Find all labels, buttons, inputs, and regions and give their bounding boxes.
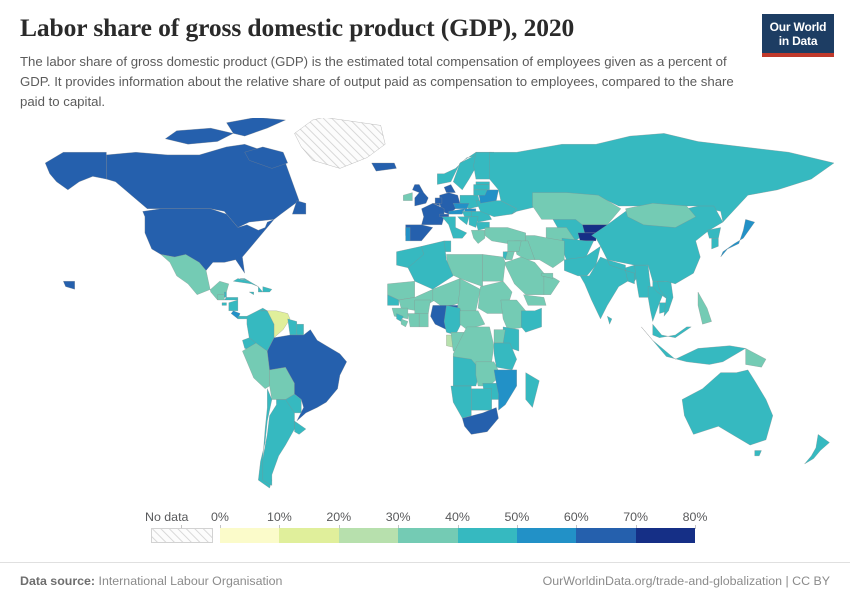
country-canada[interactable] <box>227 118 286 136</box>
legend-segment-40[interactable] <box>458 528 517 543</box>
legend-segment-10[interactable] <box>279 528 338 543</box>
country-suriname[interactable] <box>297 324 304 335</box>
country-jamaica[interactable] <box>249 292 254 295</box>
country-botswana[interactable] <box>471 389 491 411</box>
country-syria[interactable] <box>508 241 522 252</box>
country-australia[interactable] <box>682 370 773 445</box>
country-egypt[interactable] <box>483 254 506 281</box>
world-choropleth-map[interactable] <box>0 118 850 500</box>
legend-tick-label-10: 10% <box>267 510 292 524</box>
chart-header: Labor share of gross domestic product (G… <box>0 0 850 112</box>
legend-tick-mark-80 <box>695 525 696 529</box>
legend-segment-20[interactable] <box>339 528 398 543</box>
chart-footer: Data source: International Labour Organi… <box>0 562 850 600</box>
country-madagascar[interactable] <box>526 373 540 408</box>
country-japan[interactable] <box>721 219 755 257</box>
legend-tick-label-80: 80% <box>683 510 708 524</box>
country-namibia[interactable] <box>451 386 471 418</box>
owid-logo-line1: Our World <box>766 20 830 34</box>
country-united-kingdom[interactable] <box>412 185 428 207</box>
legend-tick-label-0: 0% <box>211 510 229 524</box>
country-switzerland[interactable] <box>440 214 449 217</box>
country-sri-lanka[interactable] <box>607 316 612 324</box>
country-united-states[interactable] <box>63 281 74 289</box>
country-el-salvador[interactable] <box>222 303 227 306</box>
chart-subtitle: The labor share of gross domestic produc… <box>20 52 750 112</box>
owid-logo-line2: in Data <box>766 34 830 48</box>
country-peru[interactable] <box>242 343 269 389</box>
country-netherlands[interactable] <box>435 198 442 203</box>
country-cameroon[interactable] <box>444 305 462 335</box>
country-iceland[interactable] <box>372 163 397 171</box>
country-papua-new-guinea[interactable] <box>746 348 766 367</box>
country-tajikistan[interactable] <box>578 233 596 241</box>
map-countries-layer <box>45 118 834 488</box>
legend-segment-30[interactable] <box>398 528 457 543</box>
country-ivory-coast[interactable] <box>408 314 419 327</box>
country-philippines[interactable] <box>698 292 712 324</box>
country-guyana[interactable] <box>288 319 297 335</box>
legend-no-data-swatch <box>151 528 213 543</box>
country-new-zealand[interactable] <box>805 434 830 464</box>
country-denmark[interactable] <box>444 185 455 193</box>
country-russia[interactable] <box>474 190 488 195</box>
country-dominican-republic[interactable] <box>263 287 272 292</box>
legend-tick-label-70: 70% <box>623 510 648 524</box>
country-nicaragua[interactable] <box>229 300 238 311</box>
map-legend: No data 0%10%20%30%40%50%60%70%80% <box>0 508 850 554</box>
legend-tick-label-50: 50% <box>504 510 529 524</box>
country-belize[interactable] <box>224 292 226 297</box>
country-honduras[interactable] <box>224 297 238 300</box>
country-liberia[interactable] <box>401 319 408 327</box>
country-greenland[interactable] <box>295 118 386 168</box>
legend-no-data-hatch <box>152 529 212 542</box>
page-title: Labor share of gross domestic product (G… <box>20 14 760 43</box>
country-canada[interactable] <box>165 128 233 144</box>
legend-tick-label-60: 60% <box>564 510 589 524</box>
country-united-states[interactable] <box>45 152 106 190</box>
country-malaysia[interactable] <box>653 324 692 338</box>
country-south-korea[interactable] <box>712 238 719 249</box>
legend-segment-50[interactable] <box>517 528 576 543</box>
country-burkina-faso[interactable] <box>415 300 431 314</box>
country-haiti[interactable] <box>258 287 263 292</box>
legend-tick-label-40: 40% <box>445 510 470 524</box>
legend-segment-60[interactable] <box>576 528 635 543</box>
data-source: Data source: International Labour Organi… <box>20 574 282 588</box>
legend-no-data-label: No data <box>145 510 188 524</box>
legend-segment-70[interactable] <box>636 528 695 543</box>
legend-segment-0[interactable] <box>220 528 279 543</box>
attribution-link[interactable]: OurWorldinData.org/trade-and-globalizati… <box>543 574 830 588</box>
country-slovakia[interactable] <box>465 209 476 212</box>
country-russia[interactable] <box>476 182 490 185</box>
country-australia[interactable] <box>755 451 762 456</box>
data-source-label: Data source: <box>20 574 95 588</box>
data-source-value: International Labour Organisation <box>99 574 283 588</box>
country-uruguay[interactable] <box>295 421 306 434</box>
country-russia[interactable] <box>474 185 490 190</box>
legend-ticks: 0%10%20%30%40%50%60%70%80% <box>220 508 695 526</box>
country-ireland[interactable] <box>403 193 412 201</box>
country-guatemala[interactable] <box>218 295 225 300</box>
country-italy[interactable] <box>458 217 469 225</box>
legend-color-bar[interactable] <box>220 528 695 543</box>
country-somalia[interactable] <box>521 308 541 332</box>
map-svg <box>0 118 850 500</box>
chart-page: Labor share of gross domestic product (G… <box>0 0 850 600</box>
legend-tick-label-30: 30% <box>386 510 411 524</box>
owid-logo[interactable]: Our World in Data <box>762 14 834 57</box>
country-greece[interactable] <box>471 230 485 243</box>
legend-tick-label-20: 20% <box>326 510 351 524</box>
country-yemen[interactable] <box>524 295 547 306</box>
country-czechia[interactable] <box>453 203 469 208</box>
country-romania[interactable] <box>469 217 478 228</box>
country-portugal[interactable] <box>406 228 411 241</box>
